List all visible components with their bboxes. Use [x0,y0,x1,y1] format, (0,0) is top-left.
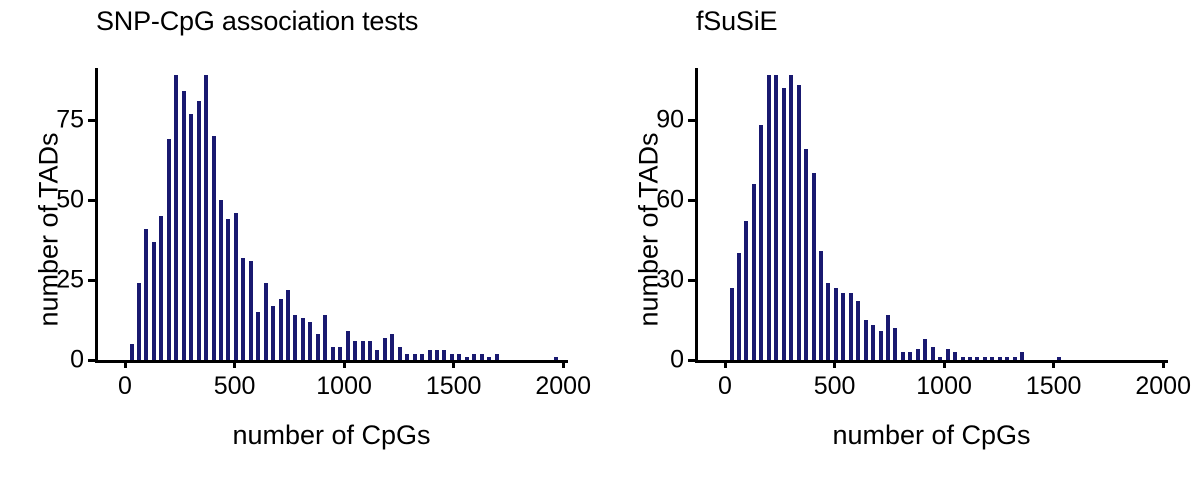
histogram-bar [480,354,484,360]
histogram-bar [737,253,741,360]
plot-area: 02550750500100015002000 [95,68,565,360]
x-axis-tick-label: 500 [214,372,256,401]
histogram-bar [182,91,186,360]
histogram-bar [871,325,875,360]
histogram-bar [413,354,417,360]
histogram-bar [383,338,387,360]
histogram-bar [938,357,942,360]
histogram-bar [841,293,845,360]
x-axis-line [695,360,1168,363]
x-axis-tick-label: 2000 [1135,372,1191,401]
histogram-bar [901,352,905,360]
histogram-bar [744,221,748,360]
histogram-bar [420,354,424,360]
histogram-bar [879,331,883,360]
histogram-bar [241,258,245,360]
histogram-bar [189,114,193,360]
y-axis-title: number of TADs [34,80,65,380]
x-axis-tick [124,360,127,368]
y-axis-tick [688,199,695,202]
histogram-bar [264,283,268,360]
y-axis-tick [688,279,695,282]
x-axis-title: number of CpGs [695,420,1168,451]
histogram-bar [435,350,439,360]
histogram-bar [323,315,327,360]
histogram-bar [271,306,275,360]
x-axis-tick-label: 2000 [535,372,591,401]
y-axis-tick [88,199,95,202]
x-axis-tick [233,360,236,368]
panel-snp-cpg-association-tests: SNP-CpG association tests 02550750500100… [0,0,600,480]
histogram-bar [361,341,365,360]
x-axis-tick [1052,360,1055,368]
histogram-bar [353,341,357,360]
x-axis-tick [452,360,455,368]
x-axis-title: number of CpGs [95,420,568,451]
histogram-bar [826,283,830,360]
histogram-bar [144,229,148,360]
histogram-bar [730,288,734,360]
histogram-bar [212,136,216,360]
histogram-bar [767,75,771,360]
histogram-bar [998,357,1002,360]
histogram-bar [953,352,957,360]
histogram-bar [968,357,972,360]
panel-fsusie: fSuSiE 03060900500100015002000 number of… [600,0,1200,480]
histogram-bar [759,125,763,360]
x-axis-line [95,360,568,363]
histogram-bar [167,139,171,360]
histogram-bar [428,350,432,360]
y-axis-tick [688,359,695,362]
histogram-bar [316,334,320,360]
bars-layer [95,68,565,360]
x-axis-tick [833,360,836,368]
panel-title: fSuSiE [696,6,777,37]
histogram-bar [346,331,350,360]
x-axis-tick-label: 0 [718,372,732,401]
histogram-bar [495,354,499,360]
histogram-bar [916,349,920,360]
histogram-bar [398,347,402,360]
x-axis-tick [562,360,565,368]
histogram-bar [301,318,305,360]
y-axis-tick-label: 0 [70,346,84,375]
histogram-bar [226,219,230,360]
histogram-bar [797,85,801,360]
histogram-bar [390,334,394,360]
y-axis-tick [88,359,95,362]
x-axis-tick [343,360,346,368]
histogram-figure: SNP-CpG association tests 02550750500100… [0,0,1200,480]
histogram-bar [368,341,372,360]
histogram-bar [1020,352,1024,360]
y-axis-tick [88,279,95,282]
x-axis-tick-label: 500 [814,372,856,401]
histogram-bar [752,184,756,360]
histogram-bar [804,149,808,360]
histogram-bar [819,251,823,360]
bars-layer [695,68,1165,360]
histogram-bar [279,299,283,360]
histogram-bar [812,173,816,360]
histogram-bar [331,347,335,360]
histogram-bar [908,352,912,360]
histogram-bar [856,301,860,360]
x-axis-tick-label: 0 [118,372,132,401]
histogram-bar [152,242,156,360]
histogram-bar [946,349,950,360]
x-axis-tick-label: 1000 [916,372,972,401]
x-axis-tick-label: 1500 [426,372,482,401]
histogram-bar [375,350,379,360]
histogram-bar [405,354,409,360]
histogram-bar [893,328,897,360]
x-axis-tick-label: 1500 [1026,372,1082,401]
histogram-bar [886,315,890,360]
histogram-bar [442,350,446,360]
histogram-bar [174,75,178,360]
histogram-bar [465,357,469,360]
histogram-bar [197,101,201,360]
histogram-bar [159,216,163,360]
y-axis-tick [88,119,95,122]
histogram-bar [983,357,987,360]
x-axis-tick-label: 1000 [316,372,372,401]
histogram-bar [931,347,935,360]
plot-area: 03060900500100015002000 [695,68,1165,360]
histogram-bar [990,357,994,360]
x-axis-tick [1162,360,1165,368]
histogram-bar [256,312,260,360]
y-axis-tick [688,119,695,122]
histogram-bar [1005,357,1009,360]
histogram-bar [234,213,238,360]
panel-title: SNP-CpG association tests [96,6,418,37]
histogram-bar [1013,357,1017,360]
histogram-bar [782,88,786,360]
histogram-bar [554,357,558,360]
histogram-bar [338,347,342,360]
y-axis-title: number of TADs [634,80,665,380]
x-axis-tick [724,360,727,368]
histogram-bar [293,315,297,360]
histogram-bar [286,290,290,360]
x-axis-tick [943,360,946,368]
histogram-bar [219,200,223,360]
histogram-bar [1057,357,1061,360]
histogram-bar [923,339,927,360]
histogram-bar [472,354,476,360]
histogram-bar [774,75,778,360]
histogram-bar [975,357,979,360]
histogram-bar [457,354,461,360]
histogram-bar [249,261,253,360]
histogram-bar [961,357,965,360]
histogram-bar [487,357,491,360]
histogram-bar [864,320,868,360]
y-axis-tick-label: 0 [670,346,684,375]
histogram-bar [308,322,312,360]
histogram-bar [834,288,838,360]
histogram-bar [130,344,134,360]
histogram-bar [789,75,793,360]
histogram-bar [204,75,208,360]
histogram-bar [849,293,853,360]
histogram-bar [137,283,141,360]
